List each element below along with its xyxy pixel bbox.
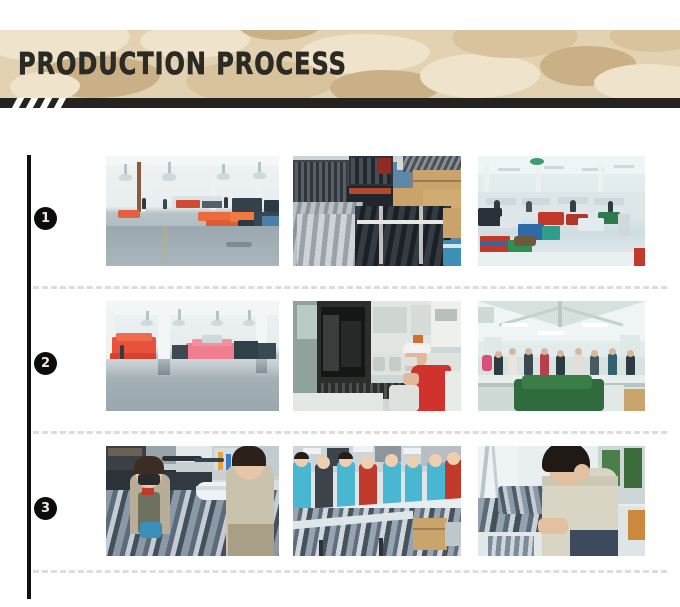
finishing-station-photo [478, 446, 645, 556]
camo-blob [420, 54, 540, 98]
stripe-hash-mark [51, 98, 68, 108]
process-steps-section: 1 [0, 126, 680, 607]
page-title: PRODUCTION PROCESS [18, 30, 347, 98]
stripe-hash-mark [37, 98, 54, 108]
stripe-hash-mark [23, 98, 40, 108]
process-step-row: 2 [0, 296, 680, 441]
material-storage-photo [106, 301, 279, 411]
step-number-badge: 1 [34, 207, 57, 230]
stripe-hash-mark [9, 98, 26, 108]
fabric-cutting-photo [106, 446, 279, 556]
process-step-row: 3 [0, 441, 680, 586]
machine-operator-photo [293, 301, 461, 411]
page-header-banner: PRODUCTION PROCESS [0, 30, 680, 98]
step-number-badge: 2 [34, 352, 57, 375]
camo-blob [610, 30, 680, 52]
header-bottom-stripe [0, 98, 680, 108]
step-number-badge: 3 [34, 497, 57, 520]
sewing-line-hall-photo [478, 301, 645, 411]
production-process-page: PRODUCTION PROCESS 1 [0, 0, 680, 607]
sewing-workshop-overview-photo [478, 156, 645, 266]
process-step-row: 1 [0, 151, 680, 296]
assembly-line-photo [293, 446, 461, 556]
warehouse-floor-photo [106, 156, 279, 266]
metal-parts-stock-photo [293, 156, 461, 266]
